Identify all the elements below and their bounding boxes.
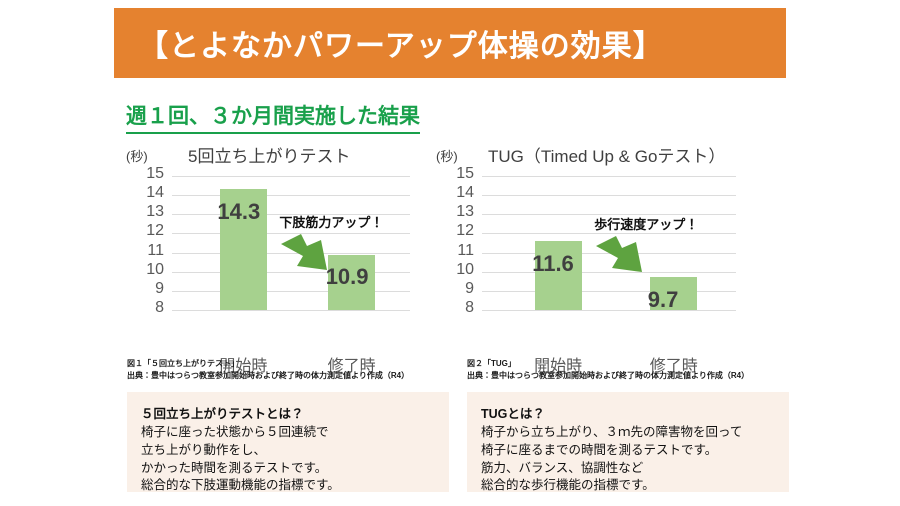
info-box-line: 立ち上がり動作をし、	[141, 442, 441, 460]
title-banner: 【とよなかパワーアップ体操の効果】	[114, 8, 786, 78]
info-box-body: 椅子から立ち上がり、３ｍ先の障害物を回って椅子に座るまでの時間を測るテストです。…	[481, 424, 781, 495]
y-axis-tick-labels: 89101112131415	[122, 174, 168, 312]
gridline	[482, 195, 736, 196]
y-axis-tick-12: 12	[456, 223, 474, 239]
page-title: 【とよなかパワーアップ体操の効果】	[138, 21, 664, 65]
figure-caption-line1: 図２「TUG」	[467, 358, 749, 370]
y-axis-tick-15: 15	[456, 166, 474, 182]
chart-panel-5-stand-test: (秒) 5回立ち上がりテスト 89101112131415 14.3開始時10.…	[122, 140, 432, 350]
bar-value-label: 14.3	[217, 199, 260, 225]
chart-title: TUG（Timed Up & Goテスト）	[488, 142, 725, 167]
info-box-line: 筋力、バランス、協調性など	[481, 460, 781, 478]
y-axis-tick-10: 10	[456, 262, 474, 278]
info-box-heading: TUGとは？	[481, 403, 781, 422]
figure-caption-left: 図１「５回立ち上がりテスト」 出典：豊中はつらつ教室参加開始時および終了時の体力…	[127, 358, 409, 381]
y-axis-tick-8: 8	[465, 300, 474, 316]
info-box-body: 椅子に座った状態から５回連続で立ち上がり動作をし、かかった時間を測るテストです。…	[141, 424, 441, 495]
chart-annotation-label: 歩行速度アップ！	[594, 214, 698, 233]
figure-caption-line2: 出典：豊中はつらつ教室参加開始時および終了時の体力測定値より作成（R4）	[467, 370, 749, 382]
plot-area: 11.6開始時9.7修了時歩行速度アップ！	[482, 176, 736, 310]
info-box-line: 椅子から立ち上がり、３ｍ先の障害物を回って	[481, 424, 781, 442]
info-box-line: 総合的な下肢運動機能の指標です。	[141, 477, 441, 495]
y-axis-tick-9: 9	[465, 281, 474, 297]
down-right-arrow-icon	[592, 234, 650, 287]
info-box-heading: ５回立ち上がりテストとは？	[141, 403, 441, 422]
figure-caption-line1: 図１「５回立ち上がりテスト」	[127, 358, 409, 370]
y-axis-tick-labels: 89101112131415	[432, 174, 478, 312]
plot-area: 14.3開始時10.9修了時下肢筋力アップ！	[172, 176, 410, 310]
figure-caption-right: 図２「TUG」 出典：豊中はつらつ教室参加開始時および終了時の体力測定値より作成…	[467, 358, 749, 381]
info-box-5-stand-test: ５回立ち上がりテストとは？ 椅子に座った状態から５回連続で立ち上がり動作をし、か…	[127, 392, 449, 492]
chart-annotation-label: 下肢筋力アップ！	[279, 212, 383, 231]
y-axis-tick-13: 13	[146, 204, 164, 220]
y-axis-tick-9: 9	[155, 281, 164, 297]
y-axis-unit-label: (秒)	[126, 146, 148, 165]
info-box-line: 椅子に座った状態から５回連続で	[141, 424, 441, 442]
bar-value-label: 11.6	[532, 251, 574, 277]
y-axis-tick-13: 13	[456, 204, 474, 220]
chart-panel-tug-test: (秒) TUG（Timed Up & Goテスト） 89101112131415…	[432, 140, 762, 350]
y-axis-tick-14: 14	[146, 185, 164, 201]
y-axis-tick-10: 10	[146, 262, 164, 278]
figure-caption-line2: 出典：豊中はつらつ教室参加開始時および終了時の体力測定値より作成（R4）	[127, 370, 409, 382]
bar-value-label: 9.7	[648, 287, 679, 313]
y-axis-tick-12: 12	[146, 223, 164, 239]
subtitle-heading: 週１回、３か月間実施した結果	[126, 100, 420, 134]
y-axis-tick-14: 14	[456, 185, 474, 201]
down-right-arrow-icon	[277, 232, 335, 285]
chart-title: 5回立ち上がりテスト	[188, 142, 350, 167]
y-axis-tick-15: 15	[146, 166, 164, 182]
y-axis-tick-11: 11	[457, 243, 474, 259]
gridline	[482, 291, 736, 292]
gridline	[482, 176, 736, 177]
y-axis-tick-11: 11	[147, 243, 164, 259]
info-box-line: 椅子に座るまでの時間を測るテストです。	[481, 442, 781, 460]
gridline	[172, 310, 410, 311]
info-box-line: かかった時間を測るテストです。	[141, 460, 441, 478]
slide-root: 【とよなかパワーアップ体操の効果】 週１回、３か月間実施した結果 (秒) 5回立…	[0, 0, 900, 506]
info-box-tug-test: TUGとは？ 椅子から立ち上がり、３ｍ先の障害物を回って椅子に座るまでの時間を測…	[467, 392, 789, 492]
gridline	[172, 176, 410, 177]
gridline	[482, 310, 736, 311]
y-axis-unit-label: (秒)	[436, 146, 458, 165]
info-box-line: 総合的な歩行機能の指標です。	[481, 477, 781, 495]
y-axis-tick-8: 8	[155, 300, 164, 316]
gridline	[172, 195, 410, 196]
